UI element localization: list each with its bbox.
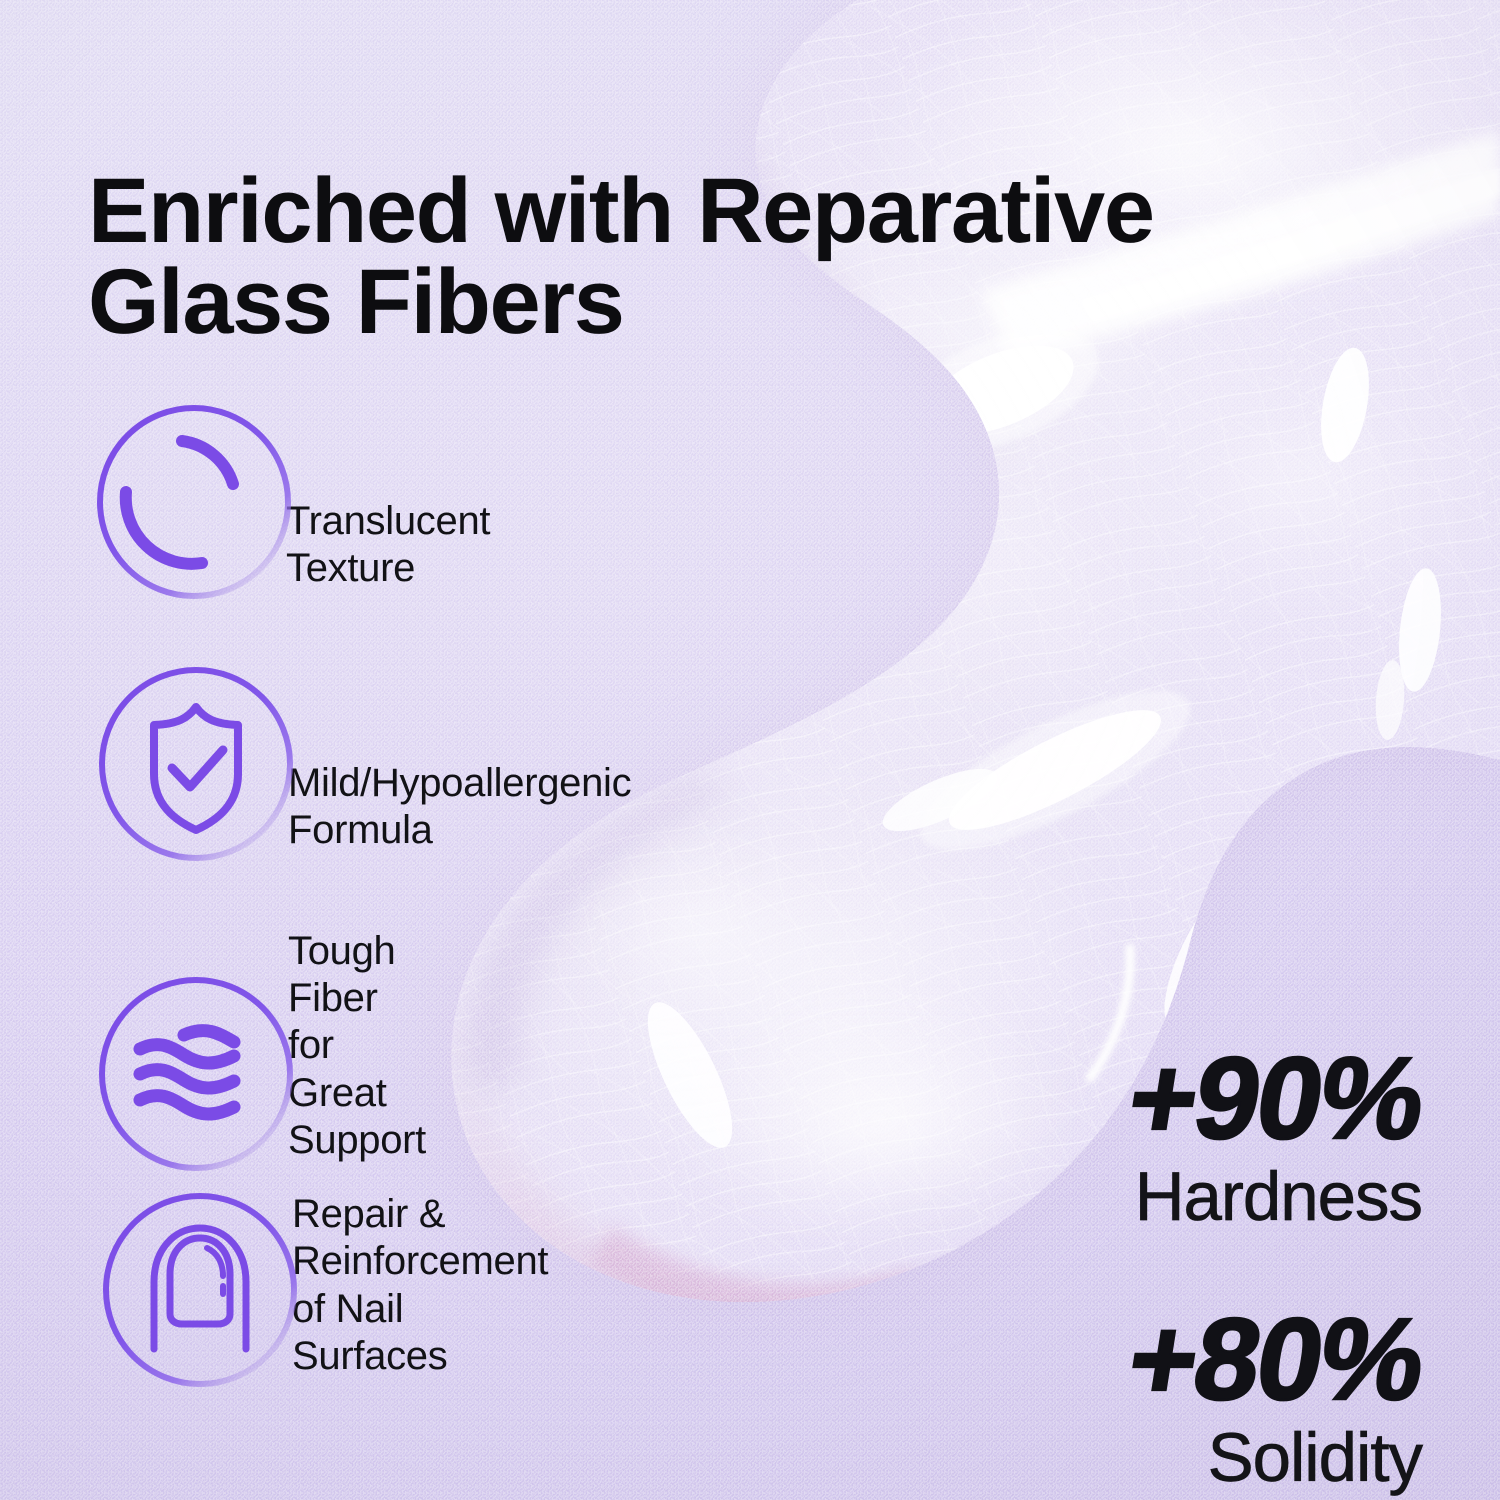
- feature-item-translucent-texture: Translucent Texture: [90, 398, 490, 606]
- fiber-waves-icon: [92, 970, 300, 1178]
- stat-hardness: +90% Hardness: [902, 1040, 1422, 1235]
- headline-line-2: Glass Fibers: [88, 257, 1268, 348]
- feature-label: Mild/Hypoallergenic Formula: [288, 760, 631, 868]
- page-title: Enriched with Reparative Glass Fibers: [88, 166, 1268, 348]
- stat-label: Solidity: [902, 1419, 1422, 1496]
- headline-line-1: Enriched with Reparative: [88, 166, 1268, 257]
- stats-block: +90% Hardness +80% Solidity: [902, 1040, 1422, 1497]
- feature-item-hypoallergenic-formula: Mild/Hypoallergenic Formula: [92, 660, 631, 868]
- stat-solidity: +80% Solidity: [902, 1301, 1422, 1496]
- product-feature-banner: Enriched with Reparative Glass Fibers: [0, 0, 1500, 1500]
- stat-label: Hardness: [902, 1158, 1422, 1235]
- fingernail-icon: [96, 1186, 304, 1394]
- stat-value: +90%: [893, 1040, 1431, 1156]
- feature-label: Repair & Reinforcement of Nail Surfaces: [292, 1191, 548, 1394]
- feature-item-tough-fiber: Tough Fiber for Great Support: [92, 928, 426, 1178]
- translucent-drop-icon: [90, 398, 298, 606]
- stat-value: +80%: [893, 1301, 1431, 1417]
- shield-check-icon: [92, 660, 300, 868]
- feature-item-nail-repair: Repair & Reinforcement of Nail Surfaces: [96, 1186, 548, 1394]
- feature-label: Translucent Texture: [286, 498, 490, 606]
- feature-label: Tough Fiber for Great Support: [288, 928, 426, 1178]
